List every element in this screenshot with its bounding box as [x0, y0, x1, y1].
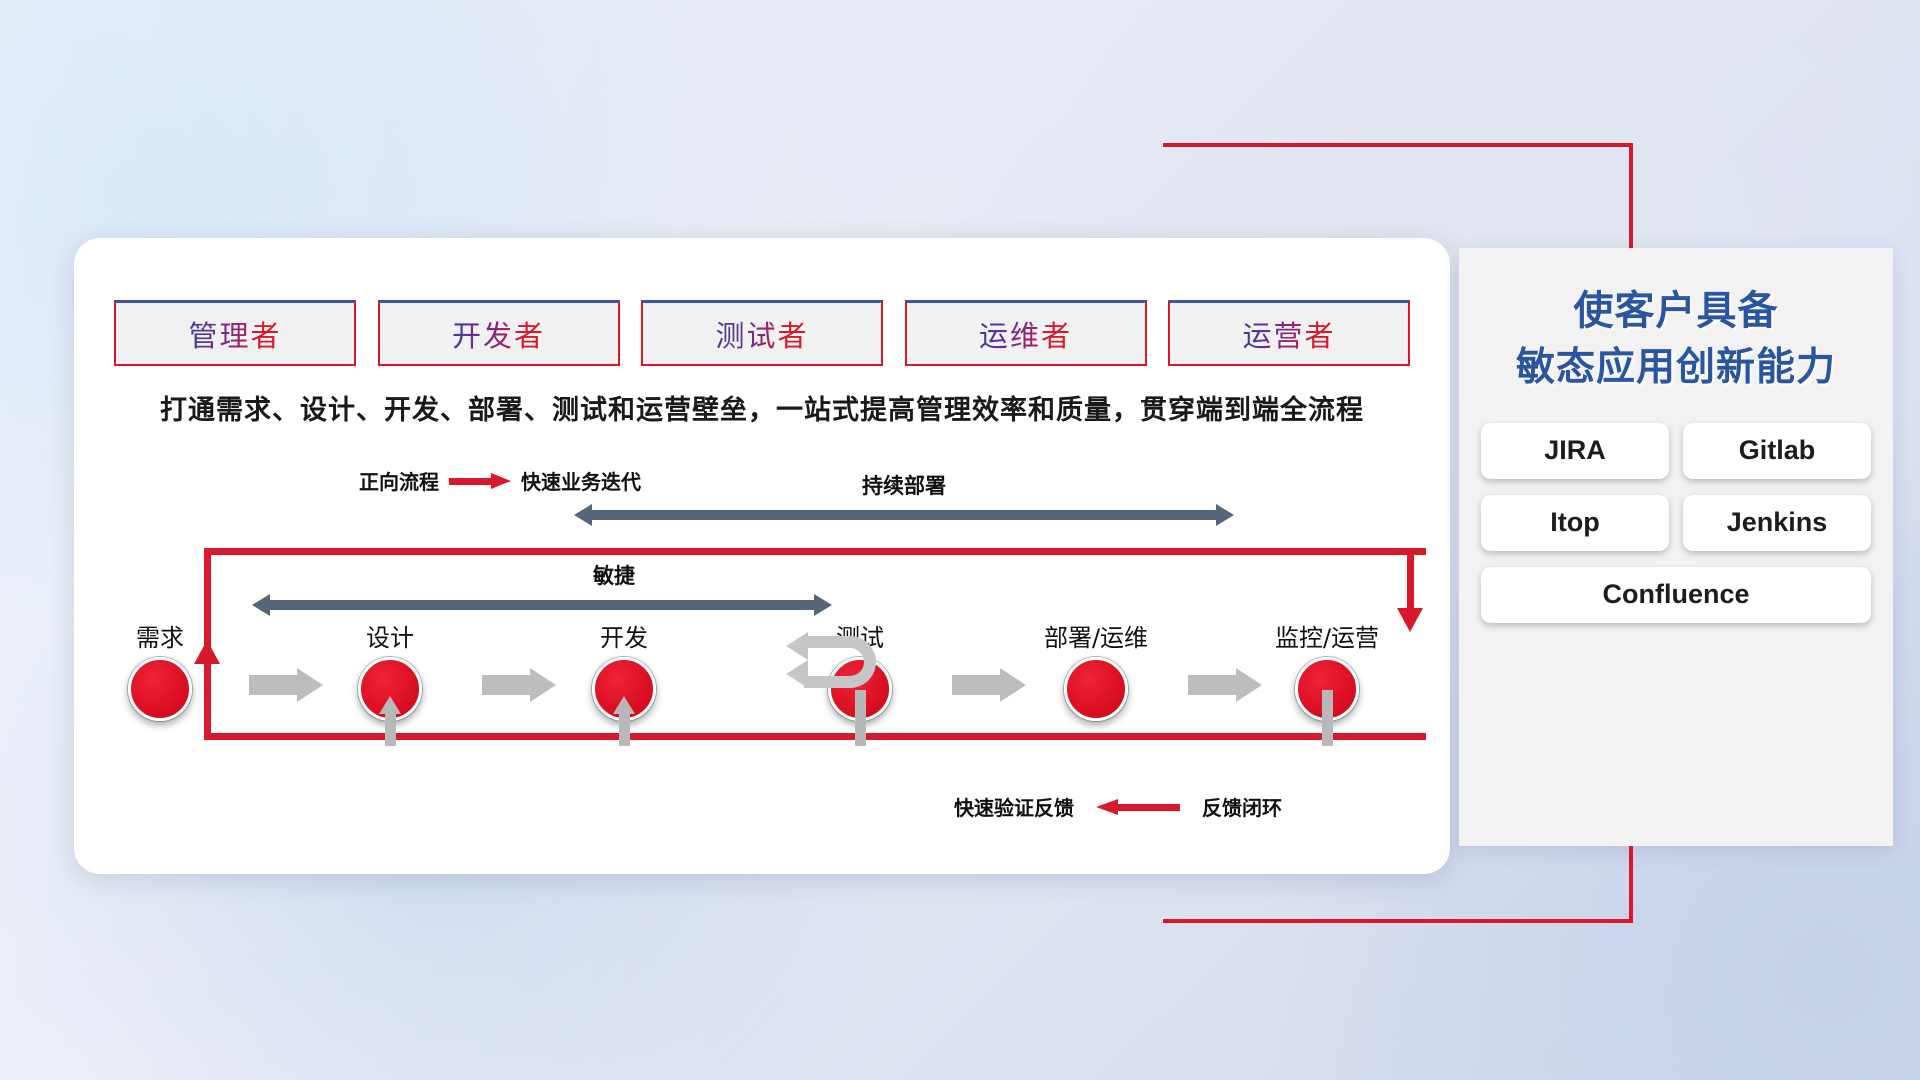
arrow-head-right-icon — [814, 594, 832, 616]
tool-tag-gitlab[interactable]: Gitlab — [1683, 423, 1871, 479]
role-box-manager[interactable]: 管理者 — [114, 300, 356, 366]
role-boxes-row: 管理者 开发者 测试者 运维者 运营者 — [114, 300, 1410, 366]
role-box-developer[interactable]: 开发者 — [378, 300, 620, 366]
span-label-agile: 敏捷 — [404, 560, 824, 590]
arrow-bar — [268, 600, 816, 610]
arrow-body — [952, 675, 1002, 695]
connector-leg-development — [619, 712, 630, 746]
arrow-tip — [1236, 668, 1262, 702]
legend-forward-right-label: 快速业务迭代 — [521, 466, 641, 495]
stage-dot — [1064, 657, 1128, 721]
connector-leg-head-design — [379, 696, 401, 714]
arrow-tip — [297, 668, 323, 702]
role-label: 运维者 — [979, 313, 1072, 355]
role-label: 运营者 — [1242, 313, 1335, 355]
tool-tag-jira[interactable]: JIRA — [1481, 423, 1669, 479]
panel-title-line1: 使客户具备 — [1459, 282, 1893, 340]
flow-arrow-3-icon — [952, 668, 1026, 702]
connector-leg-head-development — [613, 696, 635, 714]
arrow-right-red-icon — [449, 475, 511, 487]
role-box-operations[interactable]: 运营者 — [1168, 300, 1410, 366]
connector-leg-testing — [855, 690, 866, 746]
legend-feedback-right-label: 反馈闭环 — [1202, 792, 1282, 821]
arrow-body — [1188, 675, 1238, 695]
stage-dot — [128, 657, 192, 721]
legend-feedback-loop: 快速验证反馈 反馈闭环 — [954, 792, 1282, 821]
arrow-head-right-icon — [1216, 504, 1234, 526]
flow-arrow-4-icon — [1188, 668, 1262, 702]
legend-forward-left-label: 正向流程 — [359, 466, 439, 495]
role-label: 开发者 — [452, 313, 545, 355]
tool-tag-jenkins[interactable]: Jenkins — [1683, 495, 1871, 551]
right-panel: 使客户具备 敏态应用创新能力 JIRA Gitlab Itop Jenkins … — [1459, 248, 1893, 846]
arrow-tip — [1000, 668, 1026, 702]
legend-forward-flow: 正向流程 快速业务迭代 — [359, 466, 641, 495]
role-label: 管理者 — [188, 313, 281, 355]
arrow-bar — [590, 510, 1218, 520]
arrow-body — [482, 675, 532, 695]
tool-tag-confluence[interactable]: Confluence — [1481, 567, 1871, 623]
main-card: 管理者 开发者 测试者 运维者 运营者 打通需求、设计、开发、部署、测试和运营壁… — [74, 238, 1450, 874]
stage-requirement[interactable]: 需求 — [90, 618, 230, 721]
span-arrow-agile — [252, 594, 832, 616]
span-label-continuous-deployment: 持续部署 — [694, 470, 1114, 500]
loop-path — [804, 636, 876, 688]
stage-label: 需求 — [90, 618, 230, 653]
stage-label: 部署/运维 — [1026, 618, 1166, 653]
rail-arrow-stem — [1407, 548, 1414, 612]
legend-feedback-left-label: 快速验证反馈 — [954, 792, 1074, 821]
stage-label: 设计 — [320, 618, 460, 653]
connector-leg-design — [385, 712, 396, 746]
loop-arrow-head-bottom — [786, 660, 808, 688]
headline-text: 打通需求、设计、开发、部署、测试和运营壁垒，一站式提高管理效率和质量，贯穿端到端… — [74, 388, 1450, 427]
span-arrow-continuous-deployment — [574, 504, 1234, 526]
loop-arrow-head-top — [786, 632, 808, 660]
role-label: 测试者 — [715, 313, 808, 355]
flow-arrow-1-icon — [249, 668, 323, 702]
panel-title: 使客户具备 敏态应用创新能力 — [1459, 282, 1893, 397]
panel-title-line2: 敏态应用创新能力 — [1459, 340, 1893, 397]
stage-deploy-ops[interactable]: 部署/运维 — [1026, 618, 1166, 721]
arrow-left-red-icon — [1096, 801, 1180, 813]
tool-tag-list: JIRA Gitlab Itop Jenkins Confluence — [1481, 423, 1871, 623]
arrow-tip — [530, 668, 556, 702]
stage-label: 监控/运营 — [1257, 618, 1397, 653]
tool-tag-itop[interactable]: Itop — [1481, 495, 1669, 551]
arrow-body — [249, 675, 299, 695]
role-box-tester[interactable]: 测试者 — [641, 300, 883, 366]
iteration-loop-icon — [784, 636, 880, 696]
flow-arrow-2-icon — [482, 668, 556, 702]
role-box-ops[interactable]: 运维者 — [905, 300, 1147, 366]
connector-leg-monitor — [1322, 690, 1333, 746]
stage-label: 开发 — [554, 618, 694, 653]
